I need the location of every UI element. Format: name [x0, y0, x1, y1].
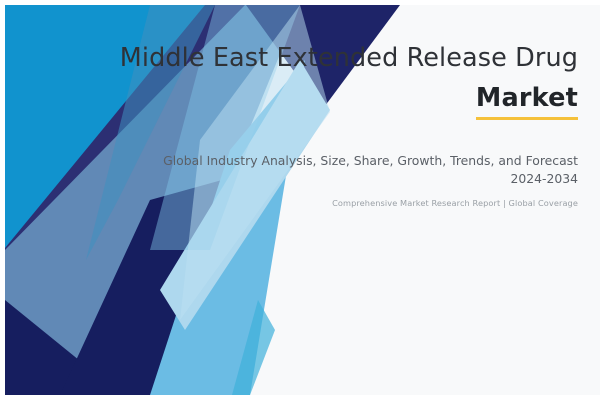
report-caption: Comprehensive Market Research Report | G…	[158, 198, 578, 209]
report-title-emphasis: Market	[476, 84, 578, 120]
report-title-emphasis-text: Market	[476, 83, 578, 113]
report-title-line-1: Middle East Extended Release Drug	[108, 44, 578, 72]
accent-underline	[476, 117, 578, 120]
report-subtitle: Global Industry Analysis, Size, Share, G…	[158, 152, 578, 187]
cover-text-layer: Middle East Extended Release Drug Market…	[0, 0, 600, 400]
report-cover: Middle East Extended Release Drug Market…	[0, 0, 600, 400]
report-title-emphasis-wrap: Market	[108, 84, 578, 120]
